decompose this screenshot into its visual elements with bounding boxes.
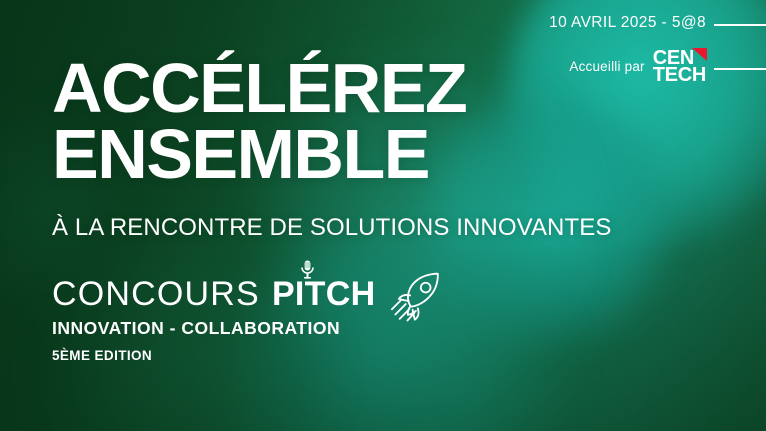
host-label: Accueilli par [569,59,644,74]
event-banner: 10 AVRIL 2025 - 5@8 Accueilli par CEN TE… [0,0,766,431]
centech-logo: CEN TECH [653,50,706,84]
banner-header: 10 AVRIL 2025 - 5@8 Accueilli par CEN TE… [466,14,766,40]
pitch-text: PITCH [272,275,376,313]
date-row: 10 AVRIL 2025 - 5@8 [466,14,766,40]
centech-logo-line2: TECH [653,67,706,84]
header-rule-bottom [714,68,766,70]
headline-line-1: ACCÉLÉREZ [52,56,466,122]
concours-row: CONCOURS PITCH [52,268,445,320]
host-row: Accueilli par CEN TECH [569,50,706,84]
concours-label: CONCOURS [52,275,260,314]
headline-line-2: ENSEMBLE [52,122,466,188]
headline-subtitle: À LA RENCONTRE DE SOLUTIONS INNOVANTES [52,214,611,242]
event-date: 10 AVRIL 2025 - 5@8 [549,14,706,32]
pitch-label: PITCH [272,275,376,314]
concours-tagline: INNOVATION - COLLABORATION [52,318,340,339]
headline-block: ACCÉLÉREZ ENSEMBLE [52,56,466,188]
concours-edition: 5ÈME EDITION [52,348,152,363]
rocket-icon [389,272,445,324]
header-rule-top [714,24,766,26]
microphone-icon [300,260,315,280]
